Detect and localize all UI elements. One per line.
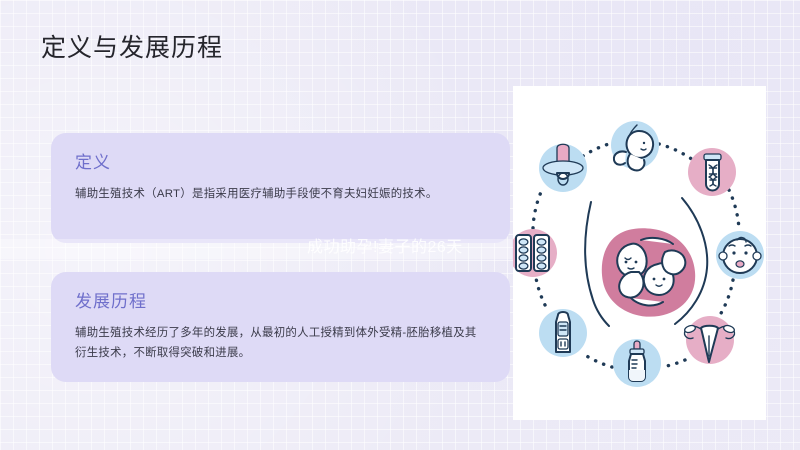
baby-bottle-icon bbox=[613, 339, 661, 387]
twin-baby-a bbox=[617, 244, 646, 298]
slide-canvas: 定义与发展历程 定义 辅助生殖技术（ART）是指采用医疗辅助手段使不育夫妇妊娠的… bbox=[0, 0, 800, 450]
card-definition: 定义 辅助生殖技术（ART）是指采用医疗辅助手段使不育夫妇妊娠的技术。 bbox=[51, 133, 510, 243]
card-definition-heading: 定义 bbox=[75, 151, 486, 175]
pregnant-belly-with-twins bbox=[585, 198, 707, 326]
dna-test-tube-icon bbox=[688, 148, 736, 196]
card-history: 发展历程 辅助生殖技术经历了多年的发展，从最初的人工授精到体外受精-胚胎移植及其… bbox=[51, 272, 510, 382]
card-definition-body: 辅助生殖技术（ART）是指采用医疗辅助手段使不育夫妇妊娠的技术。 bbox=[75, 184, 486, 204]
fetus-icon bbox=[611, 121, 659, 170]
card-history-body: 辅助生殖技术经历了多年的发展，从最初的人工授精到体外受精-胚胎移植及其衍生技术，… bbox=[75, 323, 486, 363]
pill-blister-icon bbox=[513, 229, 557, 277]
fertility-cycle-illustration: .ln { fill:none; stroke:#1f3a56; stroke-… bbox=[513, 86, 766, 420]
page-title: 定义与发展历程 bbox=[41, 31, 223, 65]
baby-face-icon bbox=[716, 231, 764, 279]
pacifier-icon bbox=[539, 144, 587, 192]
uterus-icon bbox=[684, 316, 735, 364]
illustration-panel: .ln { fill:none; stroke:#1f3a56; stroke-… bbox=[513, 86, 766, 420]
pregnancy-test-icon bbox=[539, 309, 587, 357]
card-history-heading: 发展历程 bbox=[75, 290, 486, 314]
